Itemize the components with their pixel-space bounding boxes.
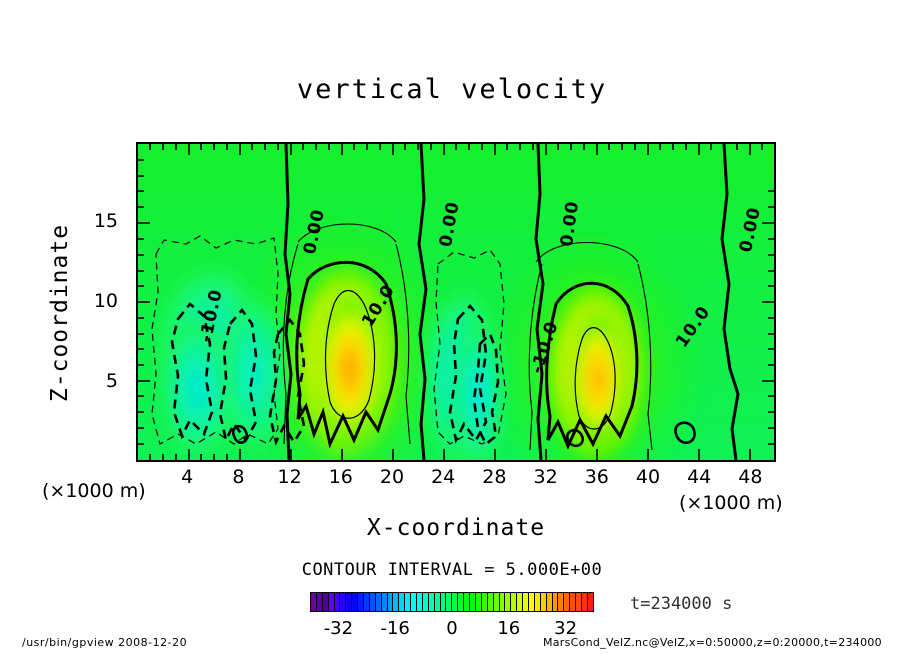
x-tick-label-28: 28 — [474, 466, 514, 488]
footer-command-label: /usr/bin/gpview 2008-12-20 — [22, 636, 187, 649]
footer-dataset-label: MarsCond_VelZ.nc@VelZ,x=0:50000,z=0:2000… — [543, 636, 882, 649]
plot-area — [136, 142, 776, 462]
x-tick-label-40: 40 — [628, 466, 668, 488]
y-tick-label-15: 15 — [78, 210, 118, 232]
x-tick-label-36: 36 — [577, 466, 617, 488]
colorbar-tick--16: -16 — [370, 618, 420, 639]
contour-plot-canvas — [138, 144, 774, 460]
colorbar-tick-0: 0 — [427, 618, 477, 639]
y-axis-unit-label: (×1000 m) — [42, 480, 146, 502]
contour-interval-caption: CONTOUR INTERVAL = 5.000E+00 — [0, 560, 904, 580]
x-tick-label-8: 8 — [218, 466, 258, 488]
y-axis-title: Z-coordinate — [47, 213, 73, 413]
x-tick-label-24: 24 — [423, 466, 463, 488]
x-axis-title: X-coordinate — [136, 515, 776, 541]
x-tick-label-48: 48 — [730, 466, 770, 488]
x-tick-label-4: 4 — [167, 466, 207, 488]
x-axis-unit-label: (×1000 m) — [679, 492, 783, 514]
colorbar — [310, 592, 594, 612]
colorbar-cell — [588, 593, 593, 611]
x-tick-label-32: 32 — [526, 466, 566, 488]
y-tick-label-10: 10 — [78, 290, 118, 312]
y-tick-label-5: 5 — [78, 370, 118, 392]
colorbar-tick--32: -32 — [313, 618, 363, 639]
x-tick-label-12: 12 — [270, 466, 310, 488]
time-label: t=234000 s — [630, 594, 732, 614]
x-tick-label-44: 44 — [679, 466, 719, 488]
x-tick-label-20: 20 — [372, 466, 412, 488]
colorbar-tick-16: 16 — [484, 618, 534, 639]
page-title: vertical velocity — [0, 74, 904, 105]
x-tick-label-16: 16 — [321, 466, 361, 488]
colorbar-container — [310, 592, 594, 612]
